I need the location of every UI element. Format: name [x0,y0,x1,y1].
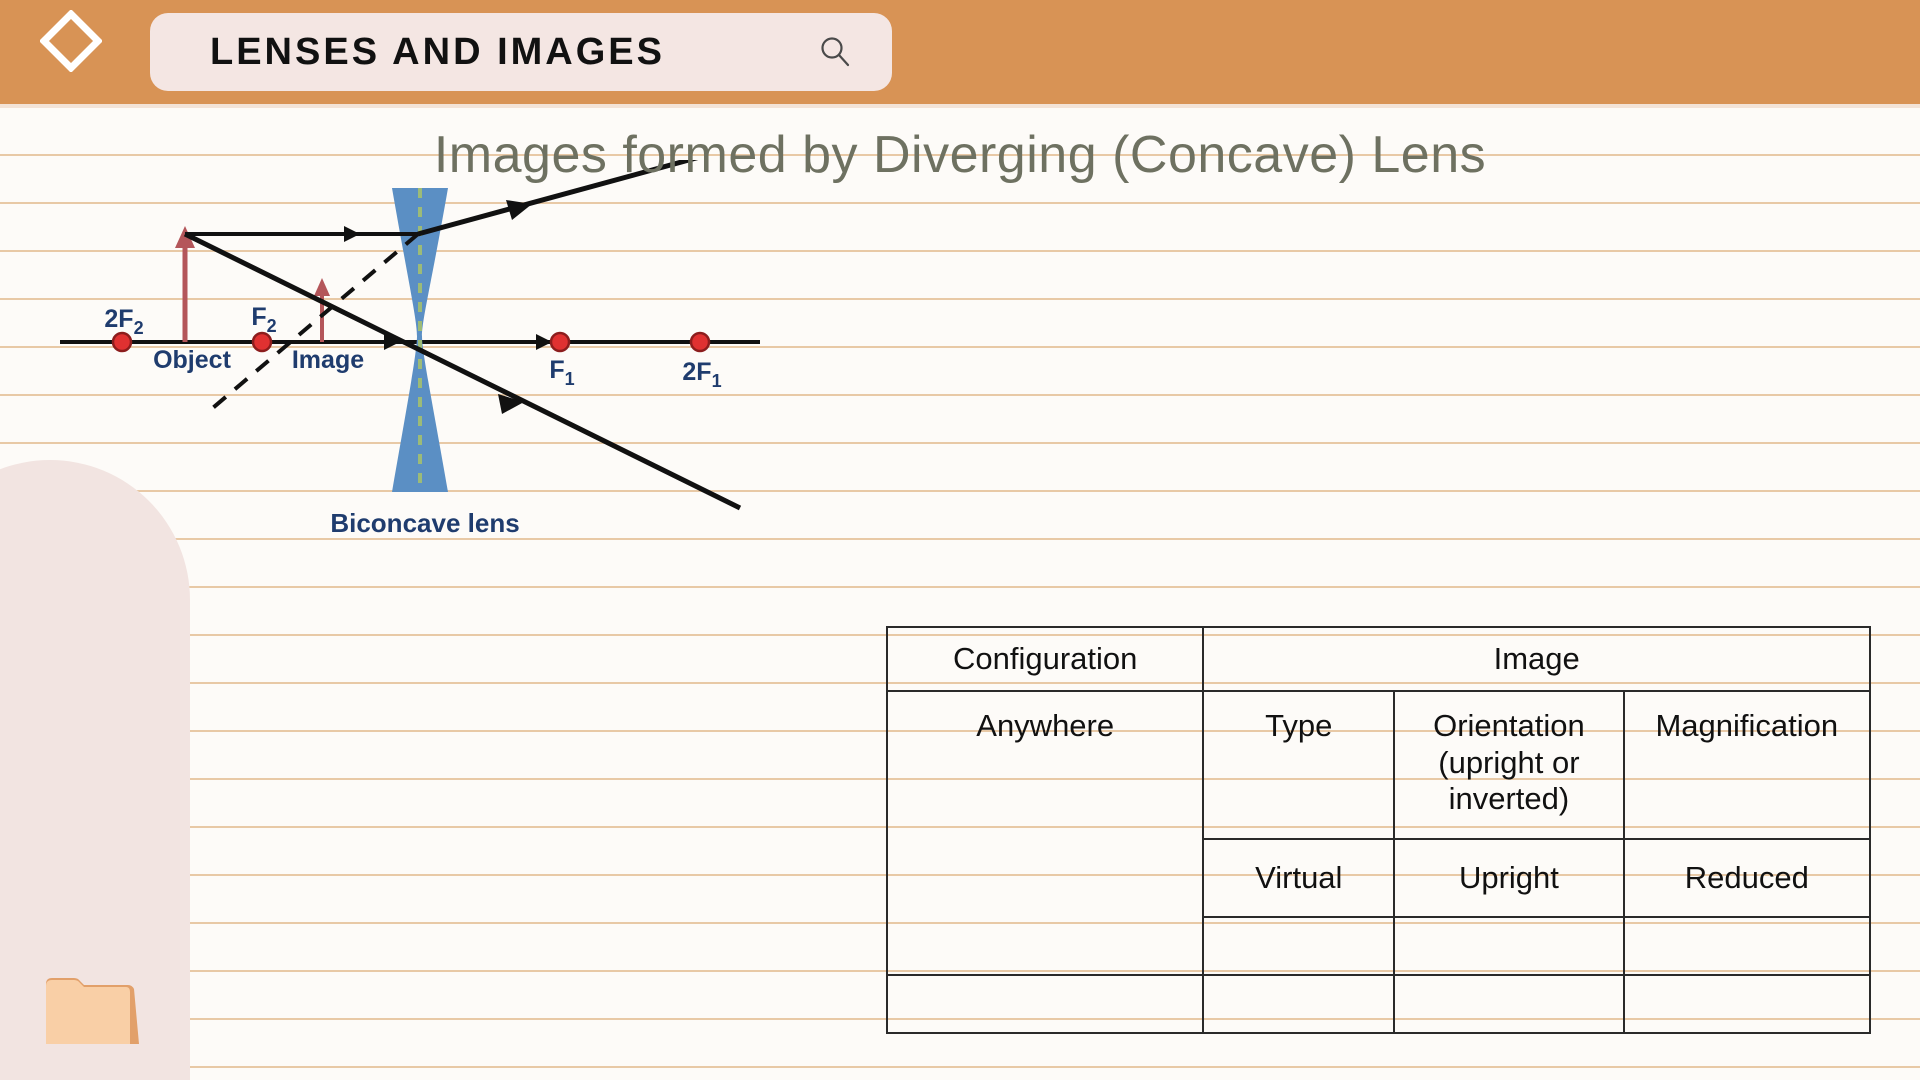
image-arrow-head [314,278,330,296]
td-empty-1b [1394,917,1623,975]
focal-point-F1 [551,333,569,351]
title-pill[interactable]: LENSES AND IMAGES [150,13,892,91]
page-title: Images formed by Diverging (Concave) Len… [0,125,1920,185]
td-type: Virtual [1203,839,1394,917]
label-image: Image [292,346,364,374]
focal-point-2F1 [691,333,709,351]
td-configuration-value: Anywhere [887,691,1203,975]
header-underline [0,104,1920,108]
focal-point-2F2 [113,333,131,351]
ray-through-center [185,234,740,508]
th-orientation-line2: (upright or [1401,745,1616,782]
diagram-caption: Biconcave lens [330,508,519,538]
label-F2: F2 [251,303,276,336]
ray-diagram: 2F2 F2 F1 2F1 Object Image Biconcave len… [40,160,980,680]
slide-canvas: LENSES AND IMAGES Images formed by Diver… [0,0,1920,1080]
th-image: Image [1203,627,1870,691]
table-row-subheader: Anywhere Type Orientation (upright or in… [887,691,1870,839]
td-orientation: Upright [1394,839,1623,917]
td-empty-1c [1624,917,1870,975]
th-orientation: Orientation (upright or inverted) [1394,691,1623,839]
table-row-header: Configuration Image [887,627,1870,691]
th-orientation-line1: Orientation [1401,708,1616,745]
label-object: Object [153,346,231,374]
th-configuration: Configuration [887,627,1203,691]
td-empty-2d [1624,975,1870,1033]
incident-ray-arrow [344,226,360,242]
image-properties-table: Configuration Image Anywhere Type Orient… [886,626,1871,1034]
search-icon[interactable] [818,35,852,69]
label-2F1: 2F1 [682,358,721,391]
th-orientation-line3: inverted) [1401,781,1616,818]
td-empty-2b [1203,975,1394,1033]
app-title: LENSES AND IMAGES [210,31,665,74]
table-row-empty-2 [887,975,1870,1033]
label-F1: F1 [549,356,574,389]
folder-icon [44,972,144,1050]
td-empty-1a [1203,917,1394,975]
td-empty-2c [1394,975,1623,1033]
th-magnification: Magnification [1624,691,1870,839]
diamond-outline-icon[interactable] [40,10,102,72]
td-empty-2a [887,975,1203,1033]
td-magnification: Reduced [1624,839,1870,917]
axis-arrow-2 [536,334,552,350]
th-type: Type [1203,691,1394,839]
